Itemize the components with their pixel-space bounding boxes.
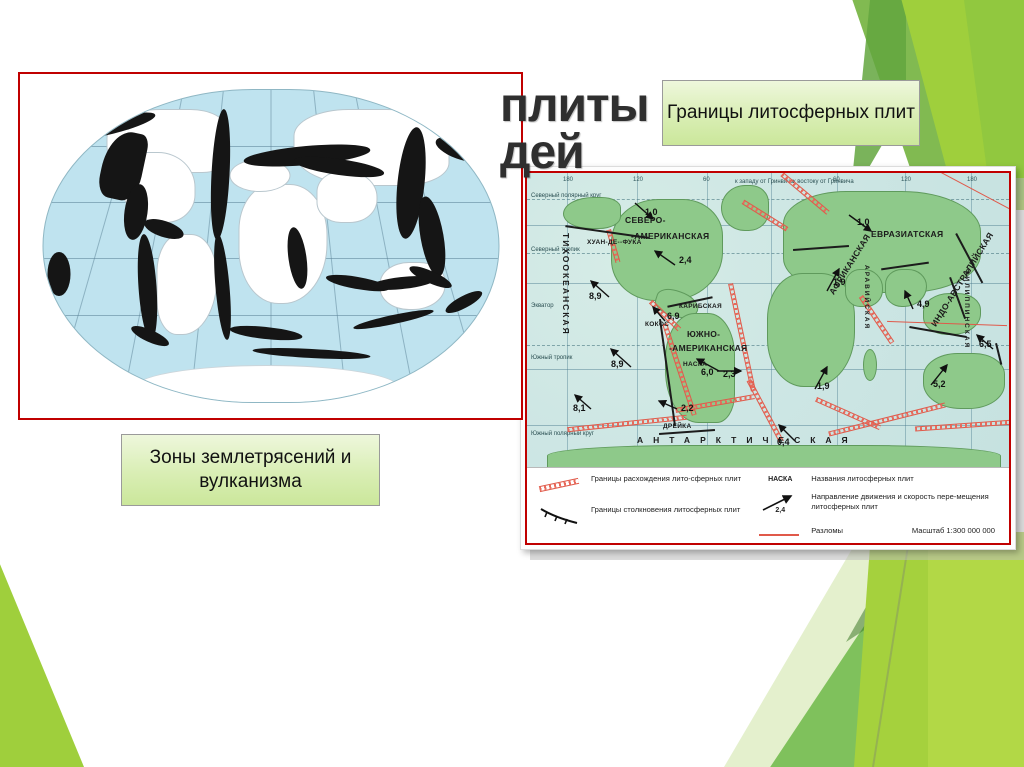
decor-bottom-right-line <box>872 550 908 767</box>
decor-bottom-right-1 <box>724 532 1024 767</box>
callout-earthquake-zones[interactable]: Зоны землетрясений и вулканизма <box>121 434 380 506</box>
legend-text-faults: Разломы <box>811 526 843 535</box>
title-line-1: плиты <box>500 79 649 132</box>
legend-item-plate-names: НАСКА Названия литосферных плит <box>757 474 999 483</box>
decor-bottom-right-5 <box>928 532 1024 767</box>
legend-item-faults: Разломы Масштаб 1:300 000 000 <box>757 523 999 537</box>
slide-canvas: плиты дей <box>0 0 1024 767</box>
decor-bottom-right-3 <box>854 532 1024 767</box>
legend-text-movement: Направление движения и скорость пере-мещ… <box>811 492 999 511</box>
legend-text-divergent: Границы расхождения лито-сферных плит <box>591 474 741 483</box>
legend-item-movement: 2,4 Направление движения и скорость пере… <box>757 492 999 514</box>
plate-map-border: 180 120 60 60 120 180 к западу от Гринви… <box>525 171 1011 545</box>
plate-map-frame: 180 120 60 60 120 180 к западу от Гринви… <box>520 166 1016 550</box>
legend-column-right: НАСКА Названия литосферных плит 2,4 <box>757 474 999 543</box>
map-legend: Границы расхождения лито-сферных плит Гр… <box>527 467 1009 543</box>
legend-key-nazca: НАСКА <box>757 474 803 483</box>
legend-item-divergent: Границы расхождения лито-сферных плит <box>537 474 747 496</box>
earthquake-map-frame <box>18 72 523 420</box>
movement-arrows <box>527 173 1009 467</box>
legend-scale: Масштаб 1:300 000 000 <box>912 526 999 535</box>
movement-arrow-icon: 2,4 <box>757 492 803 514</box>
legend-key-speed: 2,4 <box>757 505 803 514</box>
decor-bottom-left <box>0 507 150 767</box>
legend-item-convergent: Границы столкновения литосферных плит <box>537 505 747 527</box>
callout-plate-boundaries[interactable]: Границы литосферных плит <box>662 80 920 146</box>
legend-text-convergent: Границы столкновения литосферных плит <box>591 505 740 514</box>
globe-projection <box>42 89 499 403</box>
plate-map-canvas: 180 120 60 60 120 180 к западу от Гринви… <box>527 173 1009 467</box>
legend-text-plate-names: Названия литосферных плит <box>811 474 914 483</box>
legend-column-left: Границы расхождения лито-сферных плит Гр… <box>537 474 747 543</box>
earthquake-map <box>24 78 517 414</box>
decor-bottom-right-2 <box>754 532 1024 767</box>
fault-line-icon <box>757 523 803 537</box>
divergent-boundary-icon <box>537 474 583 496</box>
convergent-boundary-icon <box>537 505 583 527</box>
